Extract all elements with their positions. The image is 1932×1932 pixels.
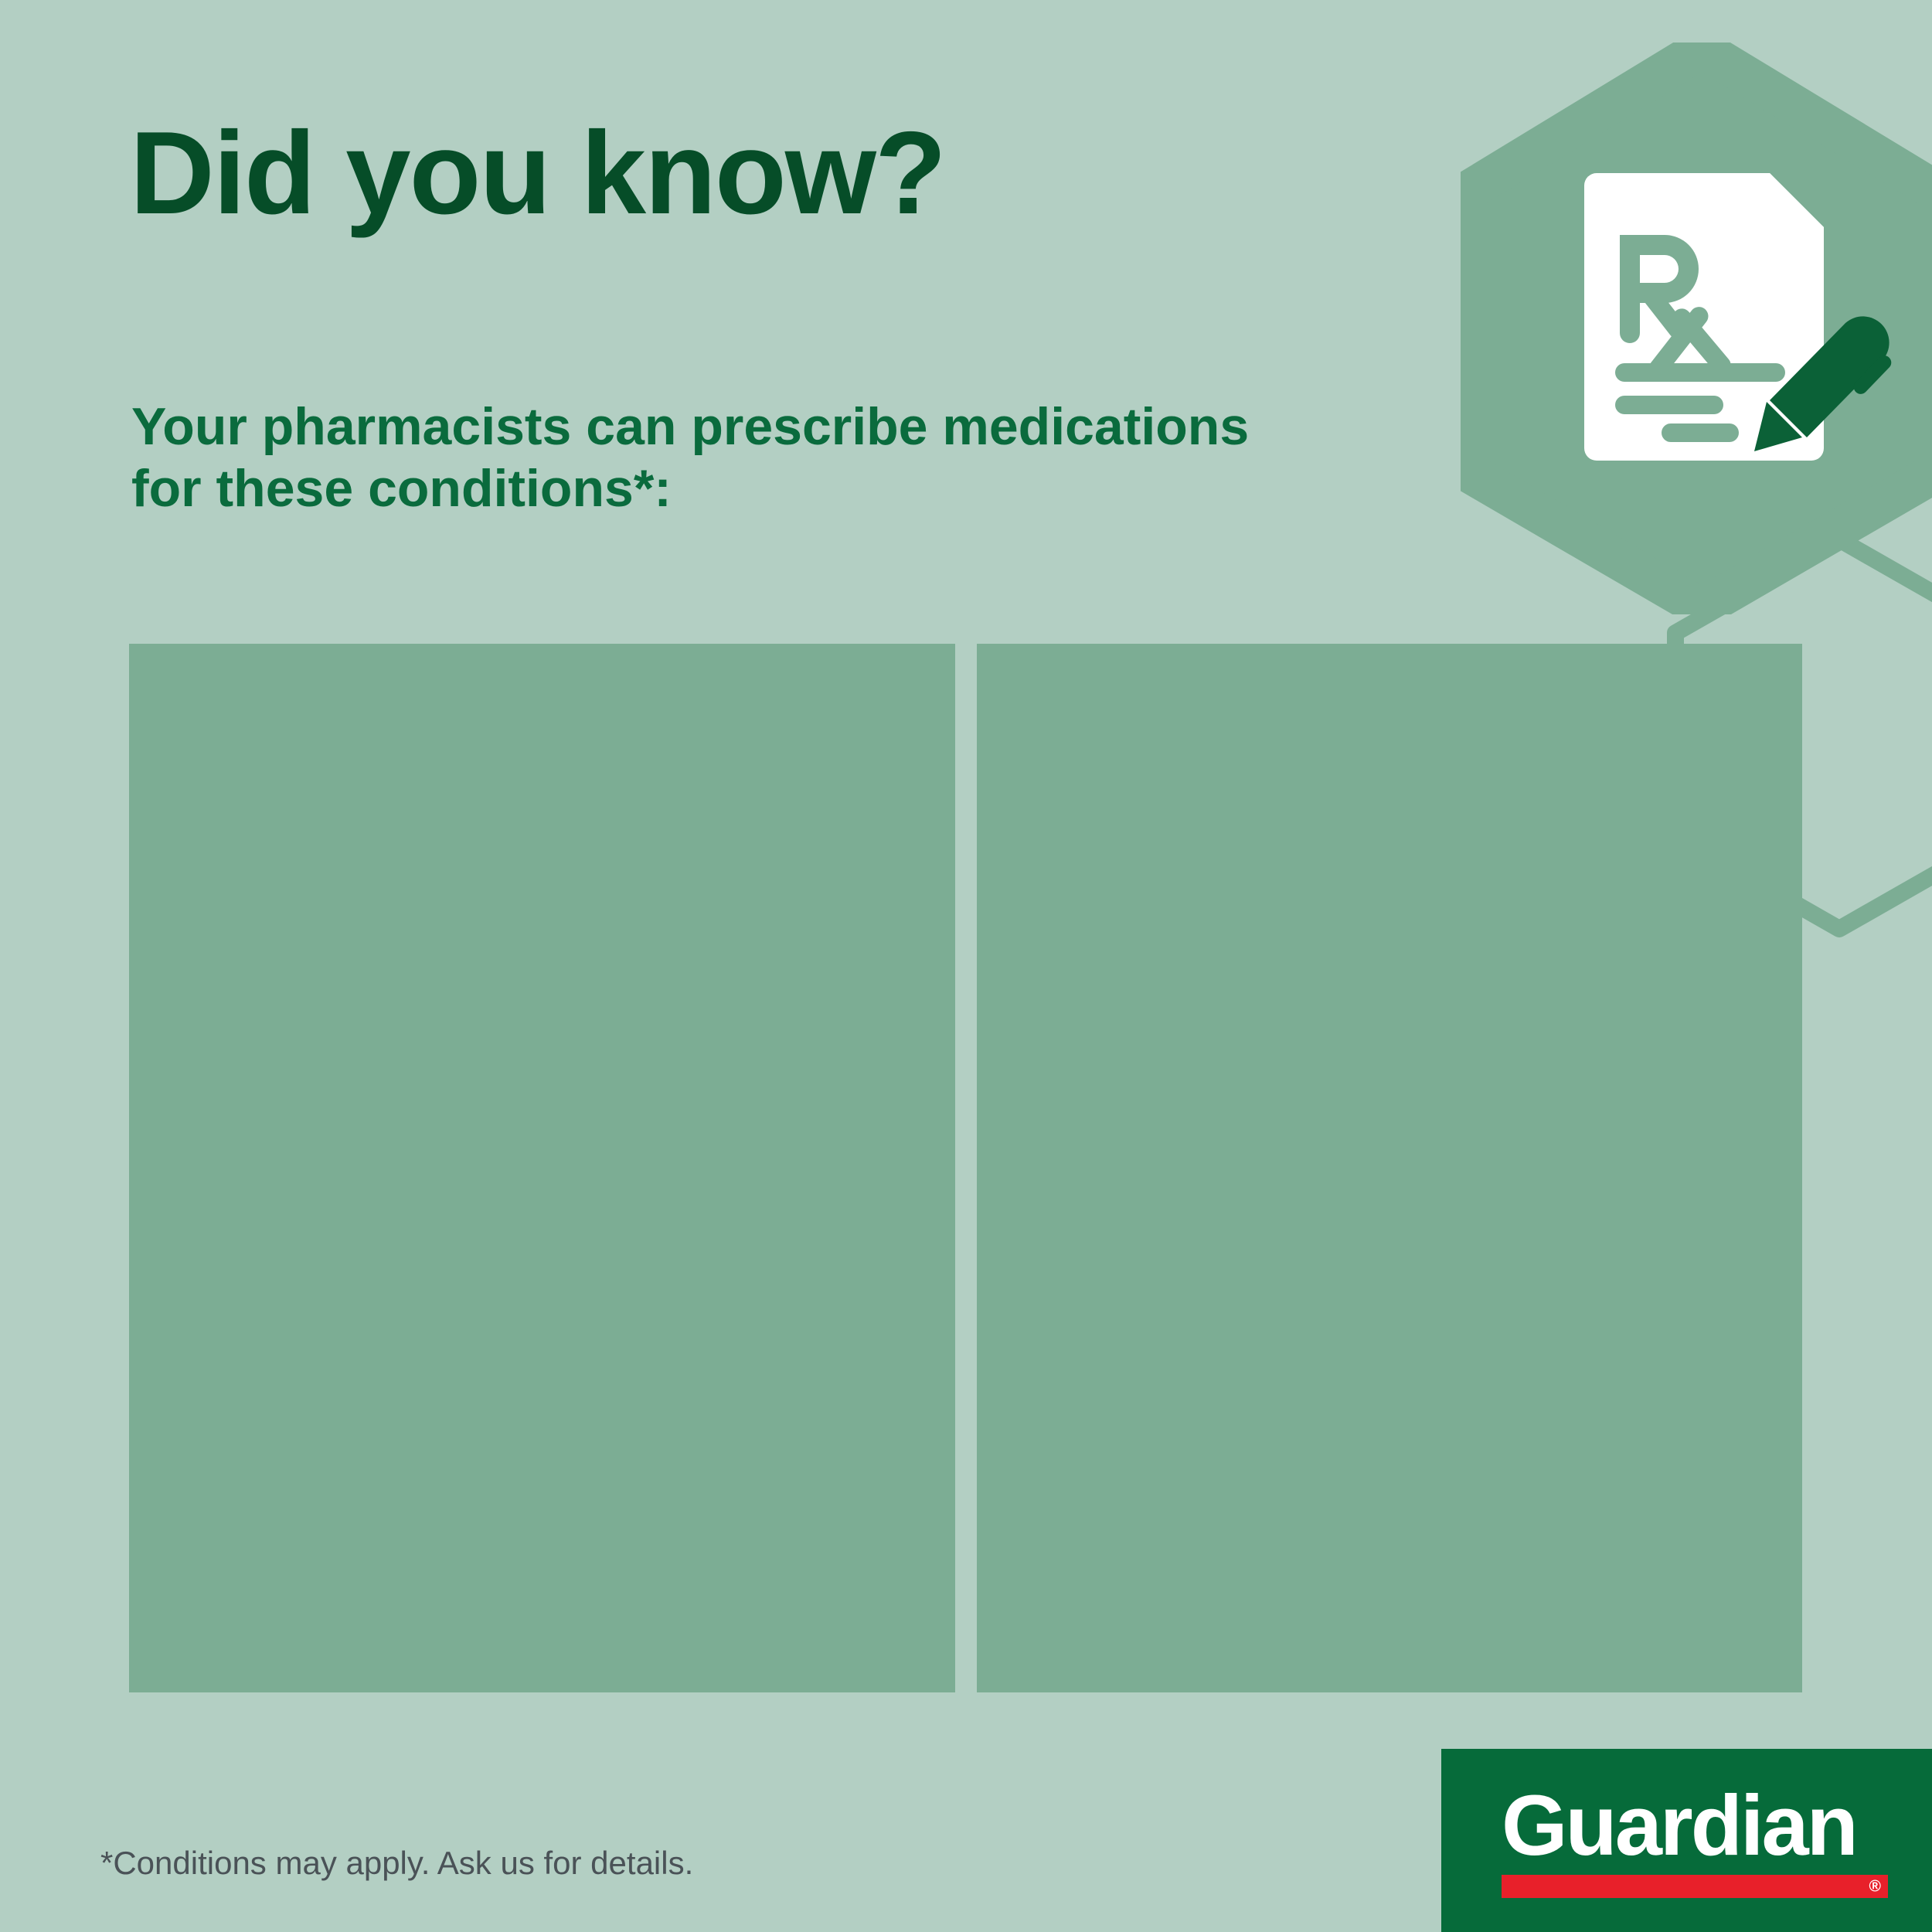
page-title: Did you know? <box>130 114 945 232</box>
guardian-logo: Guardian ® <box>1441 1749 1932 1932</box>
poster-canvas: Did you know? Your pharmacists can presc… <box>0 0 1932 1932</box>
content-panel-group <box>129 644 1802 1692</box>
left-content-panel <box>129 644 955 1692</box>
right-content-panel <box>977 644 1802 1692</box>
footnote-disclaimer: *Conditions may apply. Ask us for detail… <box>100 1844 693 1883</box>
prescription-document-icon <box>1575 168 1896 478</box>
guardian-logo-bar: ® <box>1502 1875 1888 1898</box>
page-subtitle: Your pharmacists can prescribe medicatio… <box>131 396 1252 519</box>
registered-trademark-icon: ® <box>1869 1878 1881 1894</box>
guardian-wordmark: Guardian <box>1502 1786 1888 1867</box>
guardian-logo-inner: Guardian ® <box>1502 1786 1888 1898</box>
